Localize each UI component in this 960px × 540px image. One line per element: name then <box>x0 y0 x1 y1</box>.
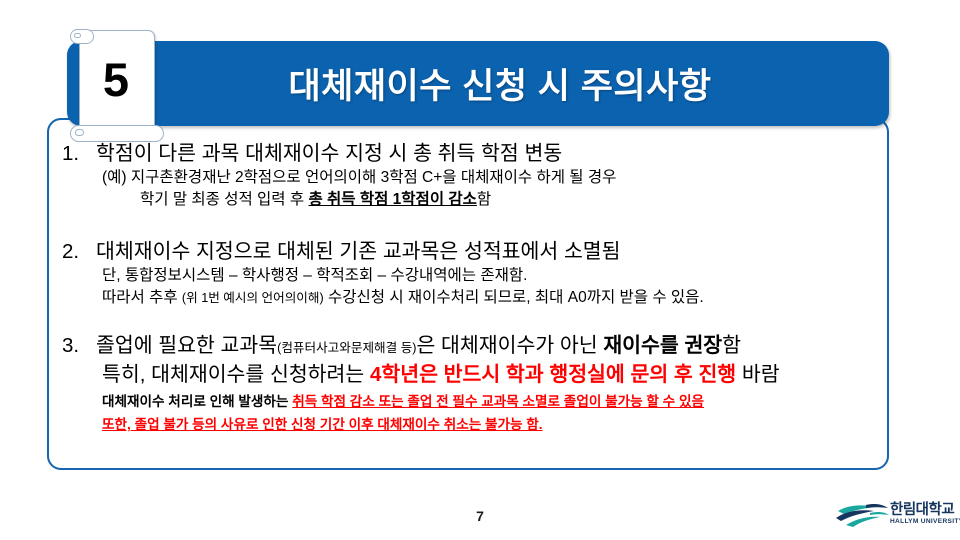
section-number-scroll: 5 <box>70 26 162 142</box>
sub2-emphasis: 총 취득 학점 1학점이 감소 <box>308 191 476 208</box>
sub2-parenthetical: (위 1번 예시의 언어의이해) <box>182 291 324 305</box>
warning-emphasis: 취득 학점 감소 또는 졸업 전 필수 교과목 소멸로 졸업이 불가능 할 수 … <box>292 394 704 409</box>
list-item: 3. 졸업에 필요한 교과목(컴퓨터사고와문제해결 등)은 대체재이수가 아닌 … <box>62 332 780 435</box>
main-middle: 은 대체재이수가 아닌 <box>416 334 603 357</box>
list-item-2-text: 대체재이수 지정으로 대체된 기존 교과목은 성적표에서 소멸됨 <box>96 238 704 265</box>
scroll-curl-top-icon <box>70 29 94 44</box>
page-title: 대체재이수 신청 시 주의사항 <box>150 41 850 126</box>
section-number: 5 <box>79 30 153 129</box>
logo-text: 한림대학교 HALLYM UNIVERSITY <box>890 503 954 525</box>
list-item-1-sub-1: (예) 지구촌환경재난 2학점으로 언어의이해 3학점 C+을 대체재이수 하게… <box>62 167 616 189</box>
list-marker: 3. <box>62 332 96 359</box>
line2-warning-emphasis: 4학년은 반드시 학과 행정실에 문의 후 진행 <box>370 363 736 386</box>
main-suffix: 함 <box>722 334 741 357</box>
sub2-prefix: 따라서 추후 <box>102 289 182 306</box>
list-item-2-sub-2: 따라서 추후 (위 1번 예시의 언어의이해) 수강신청 시 재이수처리 되므로… <box>62 287 704 309</box>
list-item-2-sub-1: 단, 통합정보시스템 – 학사행정 – 학적조회 – 수강내역에는 존재함. <box>62 265 704 287</box>
list-item-3-line-2: 특히, 대체재이수를 신청하려는 4학년은 반드시 학과 행정실에 문의 후 진… <box>62 361 780 388</box>
list-item-1-text: 학점이 다른 과목 대체재이수 지정 시 총 취득 학점 변동 <box>96 140 616 167</box>
main-parenthetical: (컴퓨터사고와문제해결 등) <box>277 341 416 355</box>
hallym-wave-icon <box>836 502 890 530</box>
warning-prefix: 대체재이수 처리로 인해 발생하는 <box>102 394 292 409</box>
list-marker: 2. <box>62 238 96 265</box>
university-logo: 한림대학교 HALLYM UNIVERSITY <box>836 500 954 536</box>
list-item: 2. 대체재이수 지정으로 대체된 기존 교과목은 성적표에서 소멸됨 단, 통… <box>62 238 704 308</box>
logo-korean-name: 한림대학교 <box>890 503 954 518</box>
sub2-suffix: 함 <box>477 191 491 208</box>
list-item-3-main: 3. 졸업에 필요한 교과목(컴퓨터사고와문제해결 등)은 대체재이수가 아닌 … <box>62 332 780 359</box>
line2-prefix: 특히, 대체재이수를 신청하려는 <box>102 363 370 386</box>
page-number: 7 <box>0 508 960 524</box>
warning-emphasis: 또한, 졸업 불가 등의 사유로 인한 신청 기간 이후 대체재이수 취소는 불… <box>102 417 543 432</box>
main-prefix: 졸업에 필요한 교과목 <box>96 334 277 357</box>
list-item-3-text: 졸업에 필요한 교과목(컴퓨터사고와문제해결 등)은 대체재이수가 아닌 재이수… <box>96 332 780 359</box>
sub2-prefix: 학기 말 최종 성적 입력 후 <box>140 191 308 208</box>
slide-canvas: 대체재이수 신청 시 주의사항 5 1. 학점이 다른 과목 대체재이수 지정 … <box>0 0 960 540</box>
list-item-3-warning-1: 대체재이수 처리로 인해 발생하는 취득 학점 감소 또는 졸업 전 필수 교과… <box>62 392 780 411</box>
list-item-1-sub-2: 학기 말 최종 성적 입력 후 총 취득 학점 1학점이 감소함 <box>62 189 616 211</box>
list-item-1-main: 1. 학점이 다른 과목 대체재이수 지정 시 총 취득 학점 변동 <box>62 140 616 167</box>
sub2-suffix: 수강신청 시 재이수처리 되므로, 최대 A0까지 받을 수 있음. <box>324 289 704 306</box>
list-item-2-main: 2. 대체재이수 지정으로 대체된 기존 교과목은 성적표에서 소멸됨 <box>62 238 704 265</box>
line2-suffix: 바람 <box>736 363 779 386</box>
list-item-3-warning-2: 또한, 졸업 불가 등의 사유로 인한 신청 기간 이후 대체재이수 취소는 불… <box>62 415 780 434</box>
main-emphasis: 재이수를 권장 <box>603 334 722 357</box>
list-marker: 1. <box>62 140 96 167</box>
list-item: 1. 학점이 다른 과목 대체재이수 지정 시 총 취득 학점 변동 (예) 지… <box>62 140 616 210</box>
logo-english-name: HALLYM UNIVERSITY <box>890 518 954 525</box>
